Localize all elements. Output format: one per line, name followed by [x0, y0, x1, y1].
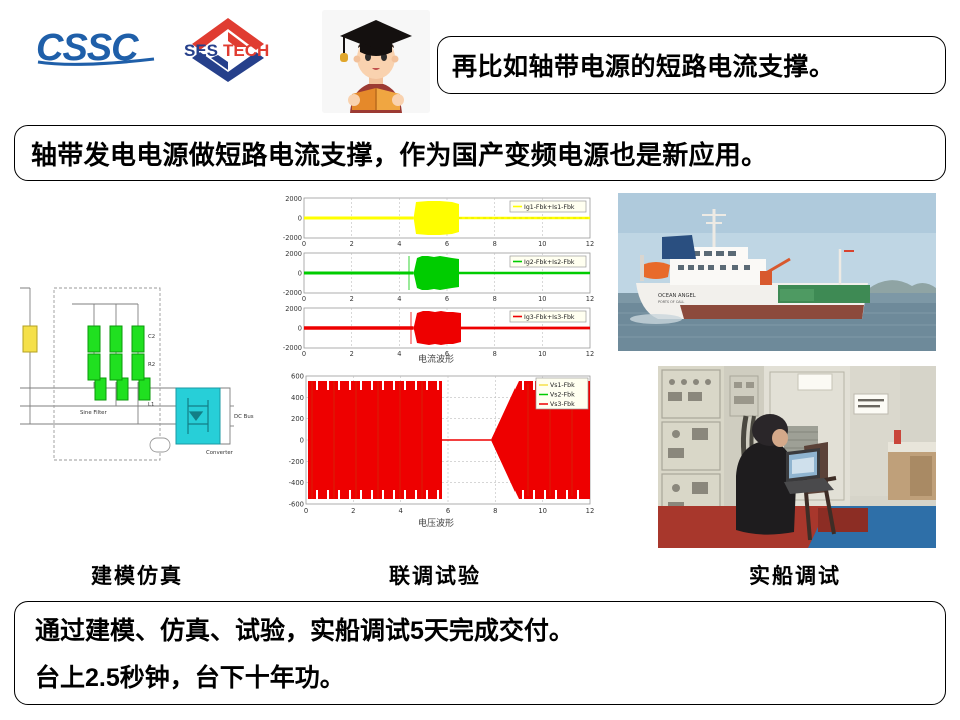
svg-text:2000: 2000 [285, 195, 302, 203]
commissioning-photo [658, 366, 936, 548]
graduate-student-icon [322, 10, 430, 113]
svg-text:8: 8 [493, 507, 497, 515]
svg-text:-2000: -2000 [283, 344, 302, 352]
svg-text:6: 6 [445, 240, 449, 248]
svg-text:2: 2 [351, 507, 355, 515]
label-capacitor: C2 [148, 334, 155, 340]
svg-text:600: 600 [291, 373, 304, 381]
svg-text:2000: 2000 [285, 250, 302, 258]
label-converter: Converter [206, 450, 234, 456]
svg-text:4: 4 [399, 507, 403, 515]
trace-ig1 [414, 201, 459, 235]
legend-ig2: Ig2-Fbk+Is2-Fbk [524, 259, 575, 266]
svg-text:0: 0 [298, 215, 302, 223]
circuit-diagram: DC Bus Converter Sine Filter L1 C2 R2 RL… [20, 192, 268, 548]
svg-text:4: 4 [397, 295, 401, 303]
sestech-logo: SES TECH [178, 12, 278, 86]
legend-vs3: Vs3-Fbk [550, 401, 575, 408]
legend-vs2: Vs2-Fbk [550, 392, 575, 399]
svg-text:-400: -400 [289, 479, 304, 487]
svg-text:0: 0 [302, 240, 306, 248]
svg-text:-200: -200 [289, 458, 304, 466]
callout-middle: 轴带发电电源做短路电流支撑，作为国产变频电源也是新应用。 [14, 125, 946, 181]
voltage-waveform-chart: 600 400 200 0 -200 -400 -600 0 2 4 6 8 1… [272, 368, 600, 540]
svg-text:SES: SES [184, 41, 218, 60]
label-sine-filter: Sine Filter [80, 410, 107, 416]
svg-text:PORTS OF CALL: PORTS OF CALL [658, 300, 684, 304]
label-resistor: R2 [148, 362, 155, 368]
callout-middle-text: 轴带发电电源做短路电流支撑，作为国产变频电源也是新应用。 [31, 135, 767, 172]
svg-text:10: 10 [538, 240, 546, 248]
legend-ig3: Ig3-Fbk+Is3-Fbk [524, 314, 575, 321]
legend-ig1: Ig1-Fbk+Is1-Fbk [524, 204, 575, 211]
caption-modeling-simulation: 建模仿真 [22, 560, 252, 590]
svg-text:0: 0 [300, 437, 304, 445]
callout-top: 再比如轴带电源的短路电流支撑。 [437, 36, 946, 94]
legend-vs1: Vs1-Fbk [550, 382, 575, 389]
callout-bottom-line1: 通过建模、仿真、试验，实船调试5天完成交付。 [35, 608, 925, 655]
svg-text:-2000: -2000 [283, 289, 302, 297]
svg-text:6: 6 [446, 507, 450, 515]
svg-text:400: 400 [291, 394, 304, 402]
svg-text:0: 0 [304, 507, 308, 515]
label-inductor: L1 [148, 402, 154, 408]
svg-text:10: 10 [538, 295, 546, 303]
svg-text:2: 2 [350, 240, 354, 248]
caption-ship-commissioning: 实船调试 [660, 560, 930, 590]
cssc-logo: CSSC [36, 28, 166, 68]
callout-bottom: 通过建模、仿真、试验，实船调试5天完成交付。 台上2.5秒钟，台下十年功。 [14, 601, 946, 705]
ship-name: OCEAN ANGEL [658, 293, 696, 299]
svg-text:0: 0 [298, 325, 302, 333]
caption-joint-test: 联调试验 [300, 560, 570, 590]
svg-text:12: 12 [586, 507, 595, 515]
callout-bottom-line2: 台上2.5秒钟，台下十年功。 [35, 655, 925, 702]
callout-top-text: 再比如轴带电源的短路电流支撑。 [452, 47, 835, 83]
voltage-chart-caption: 电压波形 [272, 516, 600, 529]
svg-text:200: 200 [291, 415, 304, 423]
trace-ig3 [414, 311, 461, 345]
svg-text:10: 10 [538, 507, 547, 515]
svg-text:2000: 2000 [285, 305, 302, 313]
trace-ig2 [414, 256, 459, 290]
current-waveform-chart: 2000 0 -2000 0 2 4 6 8 10 12 Ig1-Fbk+Is1… [272, 192, 600, 364]
svg-text:8: 8 [493, 240, 497, 248]
svg-text:0: 0 [298, 270, 302, 278]
svg-text:4: 4 [397, 240, 401, 248]
svg-text:8: 8 [493, 295, 497, 303]
svg-text:12: 12 [586, 240, 594, 248]
svg-text:-2000: -2000 [283, 234, 302, 242]
current-chart-caption: 电流波形 [272, 352, 600, 365]
ship-photo: OCEAN ANGEL PORTS OF CALL [618, 193, 936, 351]
svg-text:TECH: TECH [223, 41, 269, 60]
svg-text:0: 0 [302, 295, 306, 303]
label-dc-bus: DC Bus [234, 414, 254, 420]
svg-text:-600: -600 [289, 501, 304, 509]
svg-text:12: 12 [586, 295, 594, 303]
svg-text:6: 6 [445, 295, 449, 303]
svg-text:2: 2 [350, 295, 354, 303]
